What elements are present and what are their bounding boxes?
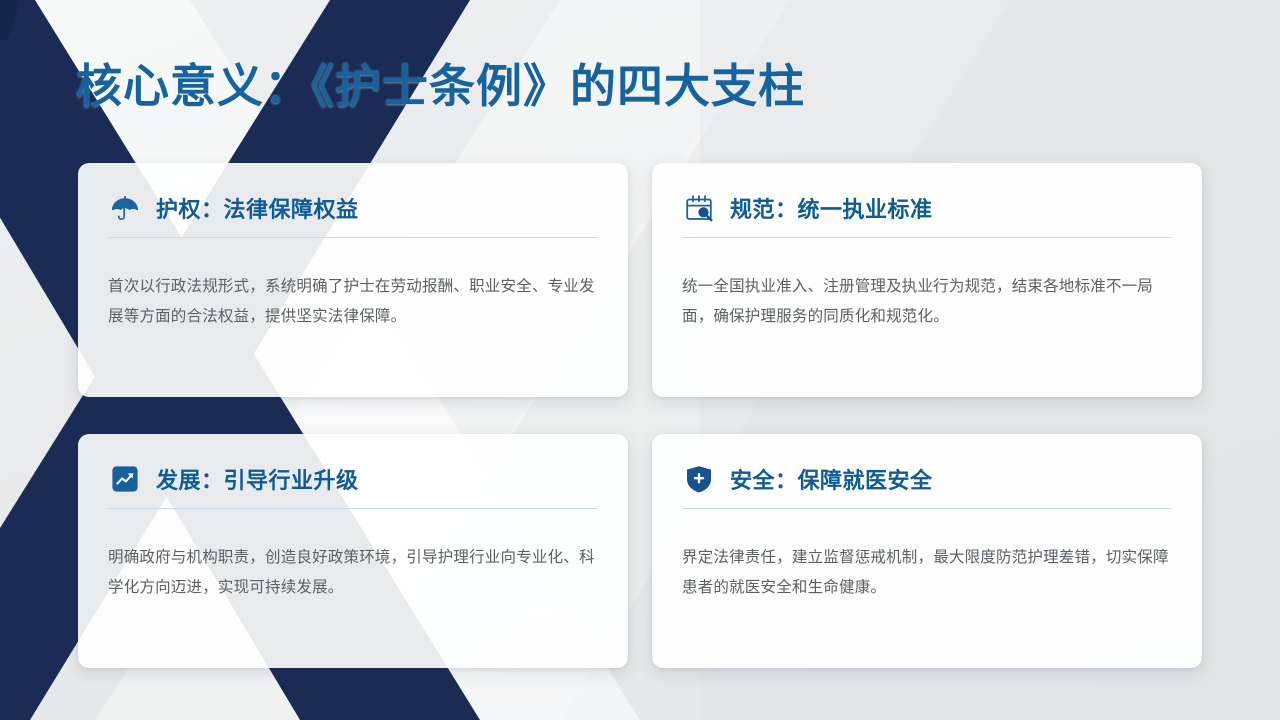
slide-root: 核心意义：《护士条例》的四大支柱 护权：法律保障权益 首次以行政法规形式，系统明… — [0, 0, 1280, 720]
card-header-3: 发展：引导行业升级 — [108, 462, 598, 508]
pillar-card-3[interactable]: 发展：引导行业升级 明确政府与机构职责，创造良好政策环境，引导护理行业向专业化、… — [78, 434, 628, 668]
trending-up-icon — [108, 462, 142, 496]
card-body-3: 明确政府与机构职责，创造良好政策环境，引导护理行业向专业化、科学化方向迈进，实现… — [108, 543, 598, 603]
card-header-1: 护权：法律保障权益 — [108, 191, 598, 237]
card-divider-2 — [682, 237, 1172, 238]
pillars-grid: 护权：法律保障权益 首次以行政法规形式，系统明确了护士在劳动报酬、职业安全、专业… — [78, 163, 1202, 668]
card-divider-4 — [682, 508, 1172, 509]
card-title-2: 规范：统一执业标准 — [730, 192, 933, 224]
card-header-4: 安全：保障就医安全 — [682, 462, 1172, 508]
card-body-1: 首次以行政法规形式，系统明确了护士在劳动报酬、职业安全、专业发展等方面的合法权益… — [108, 272, 598, 332]
card-title-4: 安全：保障就医安全 — [730, 463, 933, 495]
page-title-text: 核心意义：《护士条例》的四大支柱 — [76, 50, 805, 116]
card-body-4: 界定法律责任，建立监督惩戒机制，最大限度防范护理差错，切实保障患者的就医安全和生… — [682, 543, 1172, 603]
page-title: 核心意义：《护士条例》的四大支柱 — [76, 50, 805, 116]
navy-sliver-top-left — [0, 0, 20, 40]
card-divider-1 — [108, 237, 598, 238]
card-divider-3 — [108, 508, 598, 509]
card-title-3: 发展：引导行业升级 — [156, 463, 359, 495]
shield-plus-icon — [682, 462, 716, 496]
pillar-card-4[interactable]: 安全：保障就医安全 界定法律责任，建立监督惩戒机制，最大限度防范护理差错，切实保… — [652, 434, 1202, 668]
pillar-card-1[interactable]: 护权：法律保障权益 首次以行政法规形式，系统明确了护士在劳动报酬、职业安全、专业… — [78, 163, 628, 397]
card-body-2: 统一全国执业准入、注册管理及执业行为规范，结束各地标准不一局面，确保护理服务的同… — [682, 272, 1172, 332]
calendar-search-icon — [682, 191, 716, 225]
umbrella-icon — [108, 191, 142, 225]
pillar-card-2[interactable]: 规范：统一执业标准 统一全国执业准入、注册管理及执业行为规范，结束各地标准不一局… — [652, 163, 1202, 397]
card-title-1: 护权：法律保障权益 — [156, 192, 359, 224]
card-header-2: 规范：统一执业标准 — [682, 191, 1172, 237]
